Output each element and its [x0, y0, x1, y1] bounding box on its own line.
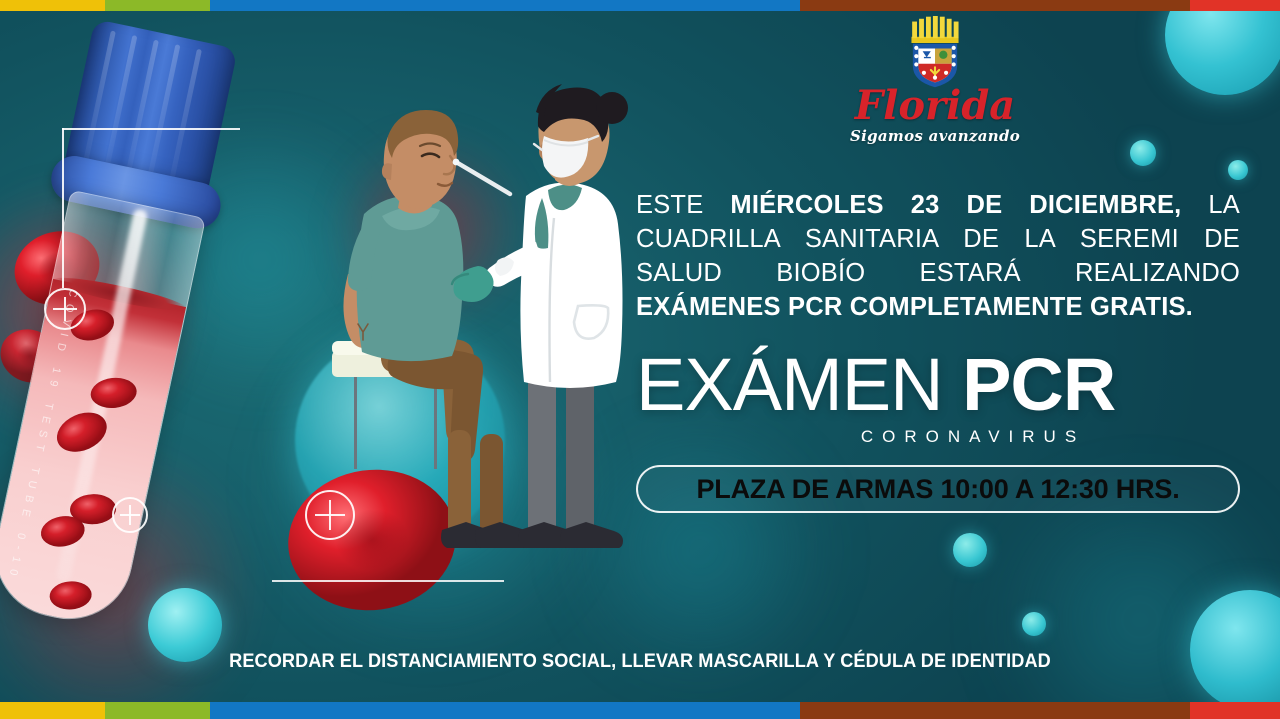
- virus-particle-icon: [940, 520, 1000, 580]
- blue-segment: [210, 0, 800, 11]
- page-title: EXÁMEN PCR: [636, 350, 1240, 420]
- location-time-banner: PLAZA DE ARMAS 10:00 A 12:30 HRS.: [636, 465, 1240, 513]
- plus-marker-icon: [44, 288, 86, 330]
- subtitle: CORONAVIRUS: [636, 427, 1240, 447]
- virus-particle-icon: [1160, 560, 1280, 719]
- intro-bold-free: EXÁMENES PCR COMPLETAMENTE GRATIS.: [636, 293, 1193, 321]
- brown-segment: [800, 0, 1190, 11]
- virus-particle-icon: [1150, 0, 1280, 110]
- copy-column: ESTE MIÉRCOLES 23 DE DICIEMBRE, LA CUADR…: [636, 162, 1240, 513]
- plus-marker-icon: [305, 490, 355, 540]
- brown-segment: [800, 702, 1190, 719]
- headline-bold: PCR: [962, 343, 1115, 426]
- footer-note: RECORDAR EL DISTANCIAMIENTO SOCIAL, LLEV…: [45, 650, 1235, 673]
- yellow-segment: [0, 0, 105, 11]
- red-segment: [1190, 702, 1280, 719]
- intro-bold-date: MIÉRCOLES 23 DE DICIEMBRE,: [730, 191, 1181, 219]
- green-segment: [105, 702, 210, 719]
- logo-tagline: Sigamos avanzando: [846, 127, 1024, 145]
- logo-name: Florida: [846, 86, 1024, 126]
- intro-part1: ESTE: [636, 191, 730, 219]
- red-segment: [1190, 0, 1280, 11]
- yellow-segment: [0, 702, 105, 719]
- patient-figure: [343, 110, 537, 548]
- green-segment: [105, 0, 210, 11]
- florida-logo: Florida Sigamos avanzando: [846, 16, 1024, 145]
- covid-test-tube-illustration: COVID 19 TEST TUBE 0-10: [0, 14, 328, 665]
- intro-paragraph: ESTE MIÉRCOLES 23 DE DICIEMBRE, LA CUADR…: [636, 188, 1240, 325]
- background-blob: [980, 480, 1280, 719]
- frame-line-horizontal-bottom: [272, 580, 504, 582]
- blue-segment: [210, 702, 800, 719]
- headline-thin: EXÁMEN: [636, 343, 962, 426]
- nasal-swab-icon: [453, 159, 510, 194]
- bottom-color-strip: [0, 702, 1280, 719]
- plus-marker-icon: [112, 497, 148, 533]
- top-color-strip: [0, 0, 1280, 11]
- frame-line-vertical-left: [62, 128, 64, 288]
- crown-icon: [911, 16, 958, 43]
- poster-canvas: COVID 19 TEST TUBE 0-10: [0, 0, 1280, 719]
- nurse-figure: [452, 84, 628, 548]
- pcr-swab-illustration: [330, 78, 640, 548]
- virus-particle-icon: [1010, 600, 1058, 648]
- location-time-text: PLAZA DE ARMAS 10:00 A 12:30 HRS.: [696, 474, 1179, 505]
- frame-line-horizontal-top: [62, 128, 240, 130]
- test-tube-glass: COVID 19 TEST TUBE 0-10: [0, 190, 206, 631]
- coat-of-arms-icon: [846, 16, 1024, 88]
